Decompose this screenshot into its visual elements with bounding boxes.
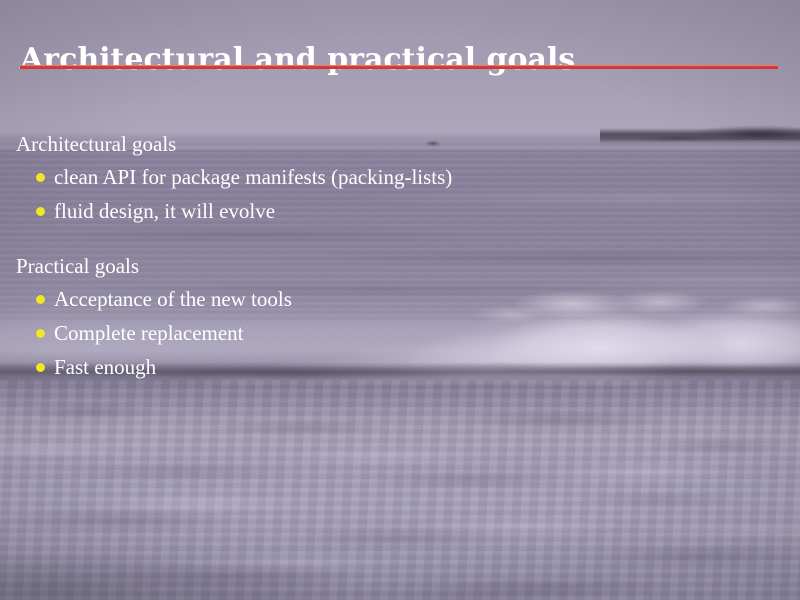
list-item-label: clean API for package manifests (packing…: [54, 165, 452, 189]
bullet-dot-icon: [36, 295, 45, 304]
bullet-list-practical: Acceptance of the new tools Complete rep…: [0, 282, 800, 384]
list-item: Complete replacement: [36, 316, 800, 350]
slide-title: Architectural and practical goals: [20, 42, 780, 78]
list-item-label: Acceptance of the new tools: [54, 287, 292, 311]
bullet-list-architectural: clean API for package manifests (packing…: [0, 160, 800, 228]
list-item: Fast enough: [36, 350, 800, 384]
slide-content: Architectural and practical goals Archit…: [0, 0, 800, 600]
presentation-slide: Architectural and practical goals Archit…: [0, 0, 800, 600]
bullet-dot-icon: [36, 173, 45, 182]
list-item-label: fluid design, it will evolve: [54, 199, 275, 223]
list-item: clean API for package manifests (packing…: [36, 160, 800, 194]
list-item-label: Complete replacement: [54, 321, 244, 345]
bullet-dot-icon: [36, 329, 45, 338]
content-group-architectural: Architectural goals clean API for packag…: [0, 128, 800, 228]
group-heading-architectural: Architectural goals: [16, 128, 800, 160]
title-underline-rule: [20, 65, 778, 69]
slide-body: Architectural goals clean API for packag…: [0, 128, 800, 384]
group-heading-practical: Practical goals: [16, 250, 800, 282]
list-item-label: Fast enough: [54, 355, 156, 379]
list-item: fluid design, it will evolve: [36, 194, 800, 228]
list-item: Acceptance of the new tools: [36, 282, 800, 316]
bullet-dot-icon: [36, 363, 45, 372]
bullet-dot-icon: [36, 207, 45, 216]
content-group-practical: Practical goals Acceptance of the new to…: [0, 250, 800, 384]
